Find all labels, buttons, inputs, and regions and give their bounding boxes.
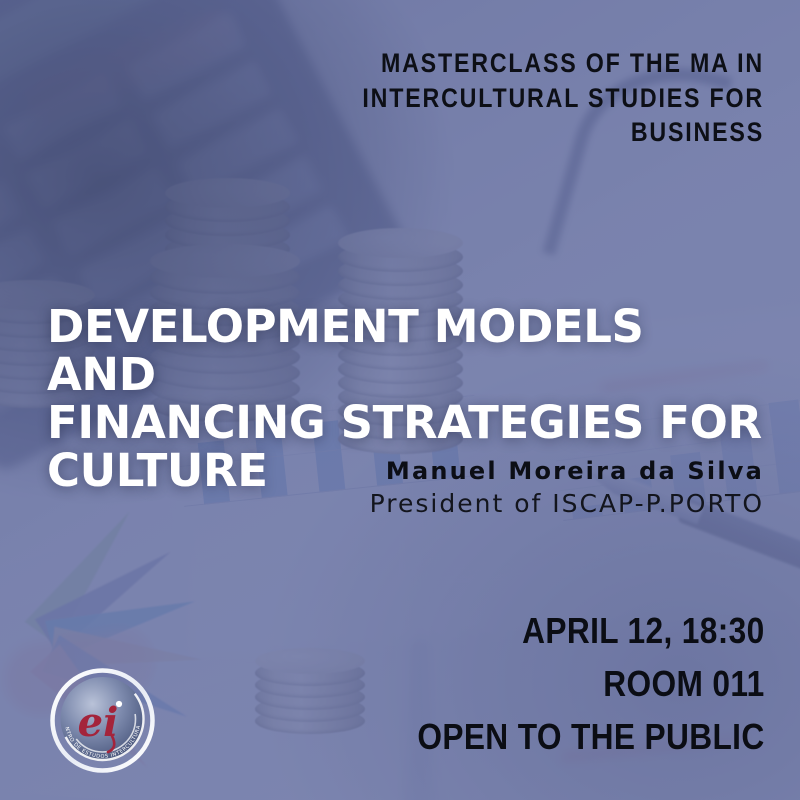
kicker-line-2: INTERCULTURAL STUDIES FOR BUSINESS [282, 81, 764, 150]
event-details: APRIL 12, 18:30 ROOM 011 OPEN TO THE PUB… [418, 605, 765, 764]
event-datetime: APRIL 12, 18:30 [418, 605, 765, 658]
logo-monogram-dot [116, 701, 122, 707]
title-line-1: DEVELOPMENT MODELS AND [47, 303, 762, 399]
event-access: OPEN TO THE PUBLIC [418, 711, 765, 764]
speaker-name: Manuel Moreira da Silva [124, 457, 764, 485]
event-room: ROOM 011 [418, 658, 765, 711]
kicker-line-1: MASTERCLASS OF THE MA IN [282, 46, 764, 81]
poster-canvas: MASTERCLASS OF THE MA IN INTERCULTURAL S… [0, 0, 800, 800]
title-line-2: FINANCING STRATEGIES FOR [47, 399, 762, 447]
organization-logo: ei CENTRO DE ESTUDOS INTERCULTURAIS [46, 664, 159, 777]
poster-kicker: MASTERCLASS OF THE MA IN INTERCULTURAL S… [282, 46, 764, 150]
speaker-role: President of ISCAP-P.PORTO [124, 489, 764, 518]
